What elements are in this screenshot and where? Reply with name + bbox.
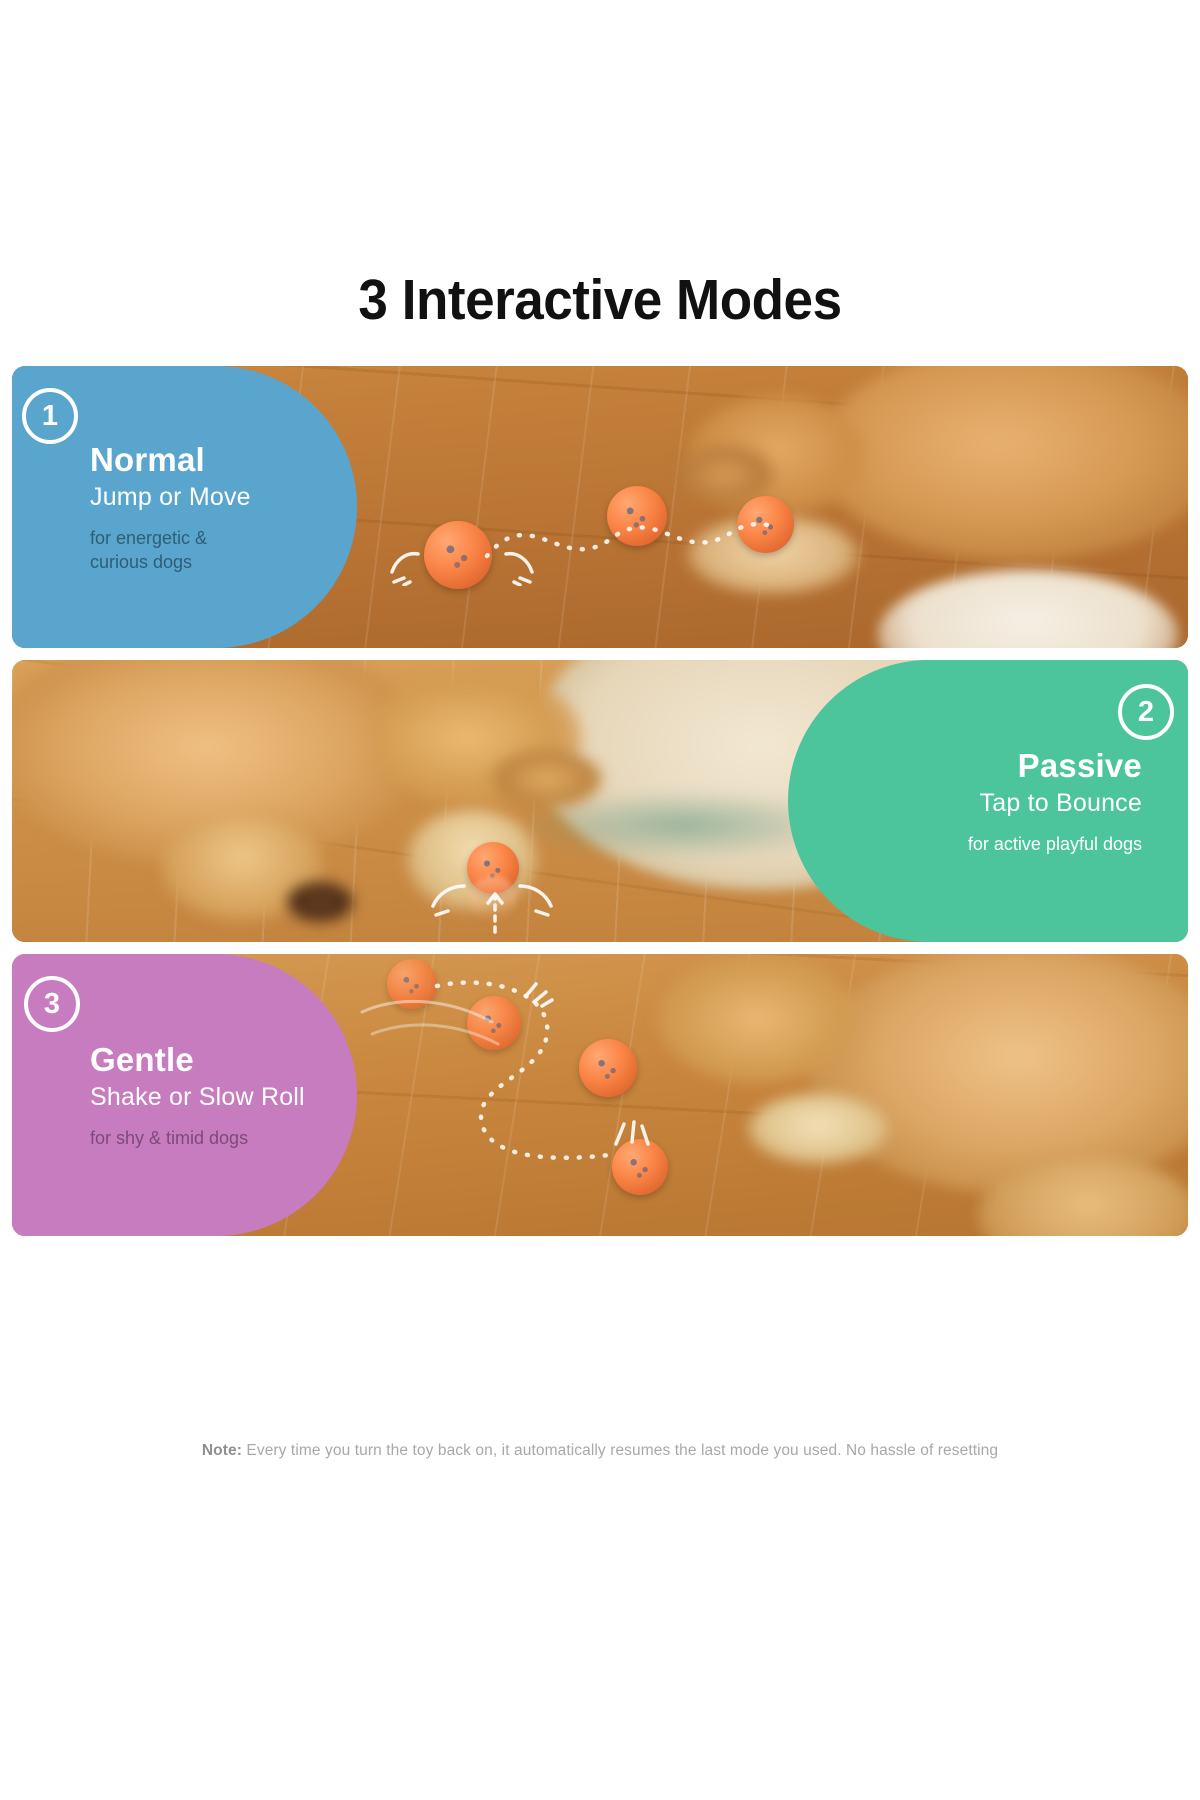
mode-description-line-2: curious dogs (90, 552, 192, 572)
shake-spark-icon (518, 970, 558, 1010)
dog-paw (748, 1094, 888, 1164)
bounce-spark-icon (496, 546, 540, 586)
dog-head (658, 954, 858, 1084)
bounce-spark-icon (512, 878, 560, 918)
bounce-arrow-icon (480, 888, 510, 934)
mode-number: 2 (1138, 696, 1154, 729)
mode-name: Passive (1018, 747, 1142, 785)
mode-description-line-1: for energetic & (90, 528, 207, 548)
mode-description: for energetic & curious dogs (90, 526, 357, 574)
dog-paw (287, 882, 353, 922)
mode-panel-gentle: Gentle Shake or Slow Roll for shy & timi… (12, 954, 1188, 1236)
bounce-spark-icon (384, 546, 428, 586)
mode-description: for active playful dogs (968, 832, 1142, 856)
bounce-spark-icon (424, 878, 472, 918)
mode-number: 3 (44, 988, 60, 1021)
mode-description: for shy & timid dogs (90, 1126, 357, 1150)
mode-number-badge: 1 (22, 388, 78, 444)
mode-number: 1 (42, 400, 58, 433)
infographic-page: 3 Interactive Modes (0, 0, 1200, 1800)
mode-panel-normal: Normal Jump or Move for energetic & curi… (12, 366, 1188, 648)
footer-note: Note: Every time you turn the toy back o… (0, 1440, 1200, 1462)
footer-note-label: Note: (202, 1442, 242, 1459)
page-title: 3 Interactive Modes (42, 268, 1158, 332)
mode-name: Gentle (90, 1041, 357, 1079)
mode-name: Normal (90, 441, 357, 479)
mode-action: Jump or Move (90, 482, 357, 512)
dog-snout (492, 750, 602, 808)
mode-number-badge: 3 (24, 976, 80, 1032)
mode-action: Tap to Bounce (980, 788, 1142, 818)
mode-panel-passive: Passive Tap to Bounce for active playful… (12, 660, 1188, 942)
motion-path-dots (342, 964, 682, 1194)
mode-action: Shake or Slow Roll (90, 1082, 357, 1112)
mode-number-badge: 2 (1118, 684, 1174, 740)
shake-spark-icon (610, 1116, 656, 1152)
footer-note-text: Every time you turn the toy back on, it … (246, 1442, 998, 1459)
